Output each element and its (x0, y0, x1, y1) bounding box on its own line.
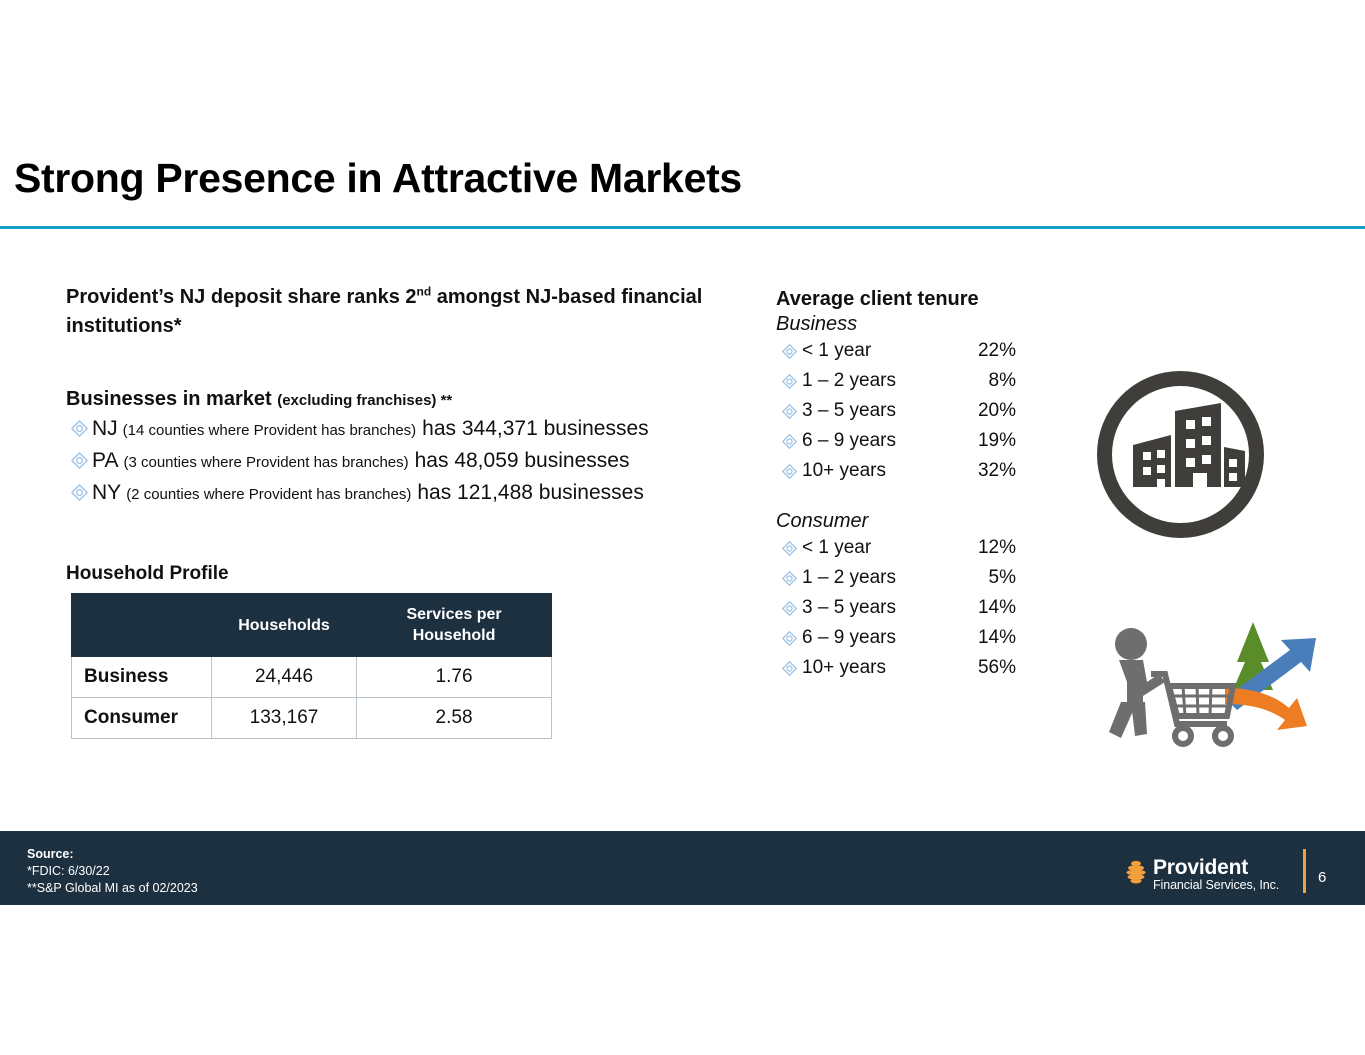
cell-business-services: 1.76 (357, 657, 552, 698)
table-row: Consumer 133,167 2.58 (72, 698, 552, 739)
tenure-business-list: < 1 year 22% 1 – 2 years 8% 3 – 5 years … (776, 336, 1016, 486)
deposit-share-text-1: Provident’s NJ deposit share ranks 2 (66, 286, 417, 308)
list-item: NY (2 counties where Provident has branc… (66, 481, 766, 513)
tenure-percent-value: 12% (954, 537, 1016, 559)
tenure-percent-value: 19% (954, 430, 1016, 452)
diamond-target-bullet-icon (776, 344, 802, 359)
tenure-percent-value: 5% (954, 567, 1016, 589)
list-item: PA (3 counties where Provident has branc… (66, 449, 766, 481)
tenure-percent-value: 32% (954, 460, 1016, 482)
tenure-consumer-list: < 1 year 12% 1 – 2 years 5% 3 – 5 years … (776, 533, 1016, 683)
diamond-target-bullet-icon (66, 484, 92, 501)
footer-divider (1303, 849, 1306, 893)
tenure-business-subheading: Business (776, 313, 1016, 336)
buildings-circle-icon (1093, 367, 1268, 542)
tenure-percent-value: 8% (954, 370, 1016, 392)
tenure-range-label: 10+ years (802, 657, 954, 679)
row-label-business: Business (72, 657, 212, 698)
bullet-business-count: has 121,488 businesses (417, 481, 644, 505)
tenure-percent-value: 14% (954, 597, 1016, 619)
tenure-consumer-subheading: Consumer (776, 510, 1016, 533)
tenure-range-label: 10+ years (802, 460, 954, 482)
cart-grid (1171, 686, 1231, 716)
list-item: < 1 year 12% (776, 533, 1016, 563)
page-title: Strong Presence in Attractive Markets (14, 155, 742, 202)
list-item: 10+ years 32% (776, 456, 1016, 486)
tenure-percent-value: 22% (954, 340, 1016, 362)
tenure-range-label: 3 – 5 years (802, 400, 954, 422)
source-line-1: *FDIC: 6/30/22 (27, 863, 198, 880)
household-profile-heading: Household Profile (66, 563, 229, 585)
businesses-heading-note: (excluding franchises) ** (277, 392, 452, 409)
cell-consumer-households: 133,167 (211, 698, 356, 739)
ordinal-suffix: nd (417, 284, 432, 298)
bullet-state-code: NY (92, 481, 121, 505)
logo-wordmark: Provident Financial Services, Inc. (1153, 857, 1279, 892)
services-header-line2: Household (413, 627, 496, 644)
table-row: Business 24,446 1.76 (72, 657, 552, 698)
diamond-target-bullet-icon (776, 434, 802, 449)
tenure-range-label: 1 – 2 years (802, 567, 954, 589)
cell-business-households: 24,446 (211, 657, 356, 698)
bullet-business-count: has 344,371 businesses (422, 417, 649, 441)
deposit-share-heading: Provident’s NJ deposit share ranks 2nd a… (66, 283, 706, 341)
left-content-column: Provident’s NJ deposit share ranks 2nd a… (66, 283, 766, 513)
list-item: 10+ years 56% (776, 653, 1016, 683)
beehive-logo-icon (1124, 859, 1148, 890)
page-number: 6 (1318, 869, 1326, 886)
diamond-target-bullet-icon (66, 452, 92, 469)
tenure-percent-value: 56% (954, 657, 1016, 679)
list-item: 6 – 9 years 14% (776, 623, 1016, 653)
diamond-target-bullet-icon (776, 661, 802, 676)
list-item: 6 – 9 years 19% (776, 426, 1016, 456)
provident-logo: Provident Financial Services, Inc. (1124, 857, 1279, 892)
businesses-heading-main: Businesses in market (66, 388, 272, 410)
slide-canvas: Strong Presence in Attractive Markets Pr… (0, 0, 1365, 1055)
tenure-range-label: < 1 year (802, 340, 954, 362)
diamond-target-bullet-icon (776, 464, 802, 479)
list-item: 3 – 5 years 20% (776, 396, 1016, 426)
diamond-target-bullet-icon (776, 631, 802, 646)
table-header-households: Households (211, 594, 356, 657)
services-header-line1: Services per (406, 606, 501, 623)
bullet-county-note: (2 counties where Provident has branches… (126, 486, 411, 503)
list-item: NJ (14 counties where Provident has bran… (66, 417, 766, 449)
tenure-range-label: 6 – 9 years (802, 627, 954, 649)
diamond-target-bullet-icon (66, 420, 92, 437)
bullet-business-count: has 48,059 businesses (415, 449, 630, 473)
shopping-cart (1151, 674, 1233, 744)
tenure-heading: Average client tenure (776, 288, 1016, 311)
source-label: Source: (27, 846, 198, 863)
tenure-range-label: 1 – 2 years (802, 370, 954, 392)
bullet-state-code: PA (92, 449, 118, 473)
table-header-row: Households Services per Household (72, 594, 552, 657)
household-profile-table: Households Services per Household Busine… (71, 593, 552, 739)
businesses-in-market-heading: Businesses in market (excluding franchis… (66, 388, 766, 411)
source-line-2: **S&P Global MI as of 02/2023 (27, 880, 198, 897)
diamond-target-bullet-icon (776, 374, 802, 389)
title-underline-rule (0, 226, 1365, 229)
diamond-target-bullet-icon (776, 404, 802, 419)
list-item: 1 – 2 years 8% (776, 366, 1016, 396)
bullet-state-code: NJ (92, 417, 118, 441)
diamond-target-bullet-icon (776, 541, 802, 556)
diamond-target-bullet-icon (776, 601, 802, 616)
table-header-services-per-household: Services per Household (357, 594, 552, 657)
list-item: < 1 year 22% (776, 336, 1016, 366)
cell-consumer-services: 2.58 (357, 698, 552, 739)
logo-company-name: Provident (1153, 857, 1279, 878)
shopper-cart-arrows-icon (1085, 612, 1330, 752)
tenure-percent-value: 20% (954, 400, 1016, 422)
tenure-percent-value: 14% (954, 627, 1016, 649)
tenure-range-label: 3 – 5 years (802, 597, 954, 619)
businesses-bullet-list: NJ (14 counties where Provident has bran… (66, 417, 766, 513)
bullet-county-note: (14 counties where Provident has branche… (123, 422, 417, 439)
table-header-blank (72, 594, 212, 657)
average-client-tenure-section: Average client tenure Business < 1 year … (776, 288, 1016, 683)
diamond-target-bullet-icon (776, 571, 802, 586)
logo-company-tagline: Financial Services, Inc. (1153, 878, 1279, 892)
source-note: Source: *FDIC: 6/30/22 **S&P Global MI a… (27, 846, 198, 897)
tenure-section-spacer (776, 486, 1016, 508)
list-item: 3 – 5 years 14% (776, 593, 1016, 623)
list-item: 1 – 2 years 5% (776, 563, 1016, 593)
tenure-range-label: 6 – 9 years (802, 430, 954, 452)
tenure-range-label: < 1 year (802, 537, 954, 559)
shopper-figure (1109, 628, 1165, 738)
bullet-county-note: (3 counties where Provident has branches… (123, 454, 408, 471)
row-label-consumer: Consumer (72, 698, 212, 739)
